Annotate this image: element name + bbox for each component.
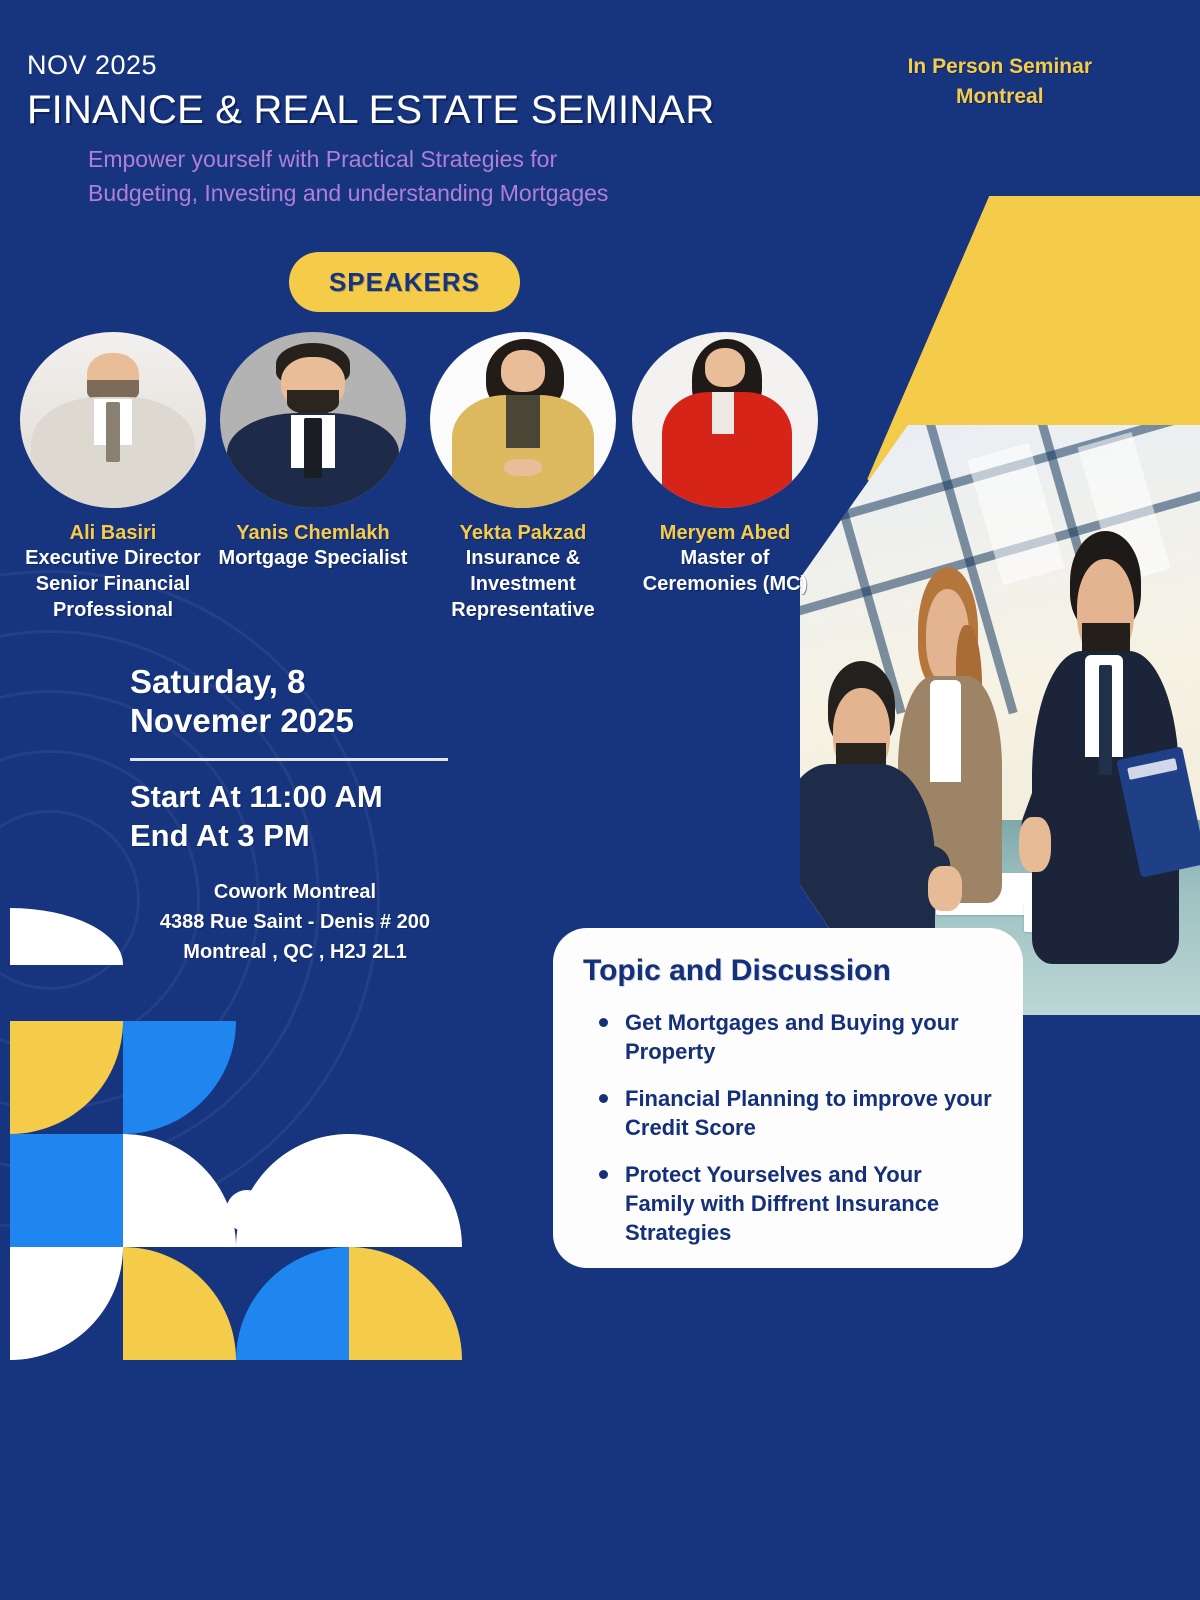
speaker-card-1: Ali Basiri Executive Director Senior Fin… [18, 332, 208, 623]
speaker-card-3: Yekta Pakzad Insurance & Investment Repr… [428, 332, 618, 623]
venue-name: Cowork Montreal [130, 877, 460, 907]
speaker-name: Meryem Abed [630, 522, 820, 545]
speaker-name: Ali Basiri [18, 522, 208, 545]
topic-list-item: Get Mortgages and Buying your Property [583, 1008, 993, 1066]
event-end-time: End At 3 PM [130, 816, 460, 855]
topic-card-title: Topic and Discussion [583, 954, 993, 988]
speaker-card-2: Yanis Chemlakh Mortgage Specialist [218, 332, 408, 571]
geometric-pattern-decoration [10, 908, 462, 1270]
event-date-line-2: Novemer 2025 [130, 701, 460, 740]
speaker-name: Yekta Pakzad [428, 522, 618, 545]
topic-list-item: Protect Yourselves and Your Family with … [583, 1160, 993, 1247]
kicker-date: NOV 2025 [27, 50, 157, 81]
avatar [430, 332, 616, 508]
avatar [20, 332, 206, 508]
page-title: FINANCE & REAL ESTATE SEMINAR [27, 88, 714, 133]
topic-list-item: Financial Planning to improve your Credi… [583, 1084, 993, 1142]
speaker-role: Insurance & Investment Representative [428, 545, 618, 623]
badge-line-1: In Person Seminar [908, 52, 1092, 82]
speaker-role: Master of Ceremonies (MC) [630, 545, 820, 597]
topic-list: Get Mortgages and Buying your Property F… [583, 1008, 993, 1247]
speaker-name: Yanis Chemlakh [218, 522, 408, 545]
topic-and-discussion-card: Topic and Discussion Get Mortgages and B… [553, 928, 1023, 1268]
speakers-badge: SPEAKERS [289, 252, 520, 312]
badge-line-2: Montreal [908, 82, 1092, 112]
event-date-line-1: Saturday, 8 [130, 662, 460, 701]
avatar [220, 332, 406, 508]
divider [130, 758, 448, 761]
seminar-format-badge: In Person Seminar Montreal [908, 52, 1092, 112]
speaker-card-4: Meryem Abed Master of Ceremonies (MC) [630, 332, 820, 597]
white-dot [226, 1190, 268, 1232]
page-subtitle: Empower yourself with Practical Strategi… [88, 142, 628, 210]
speaker-role: Mortgage Specialist [218, 545, 408, 571]
business-handshake-photo [800, 425, 1200, 1015]
avatar [632, 332, 818, 508]
event-start-time: Start At 11:00 AM [130, 777, 460, 816]
speaker-role: Executive Director Senior Financial Prof… [18, 545, 208, 623]
